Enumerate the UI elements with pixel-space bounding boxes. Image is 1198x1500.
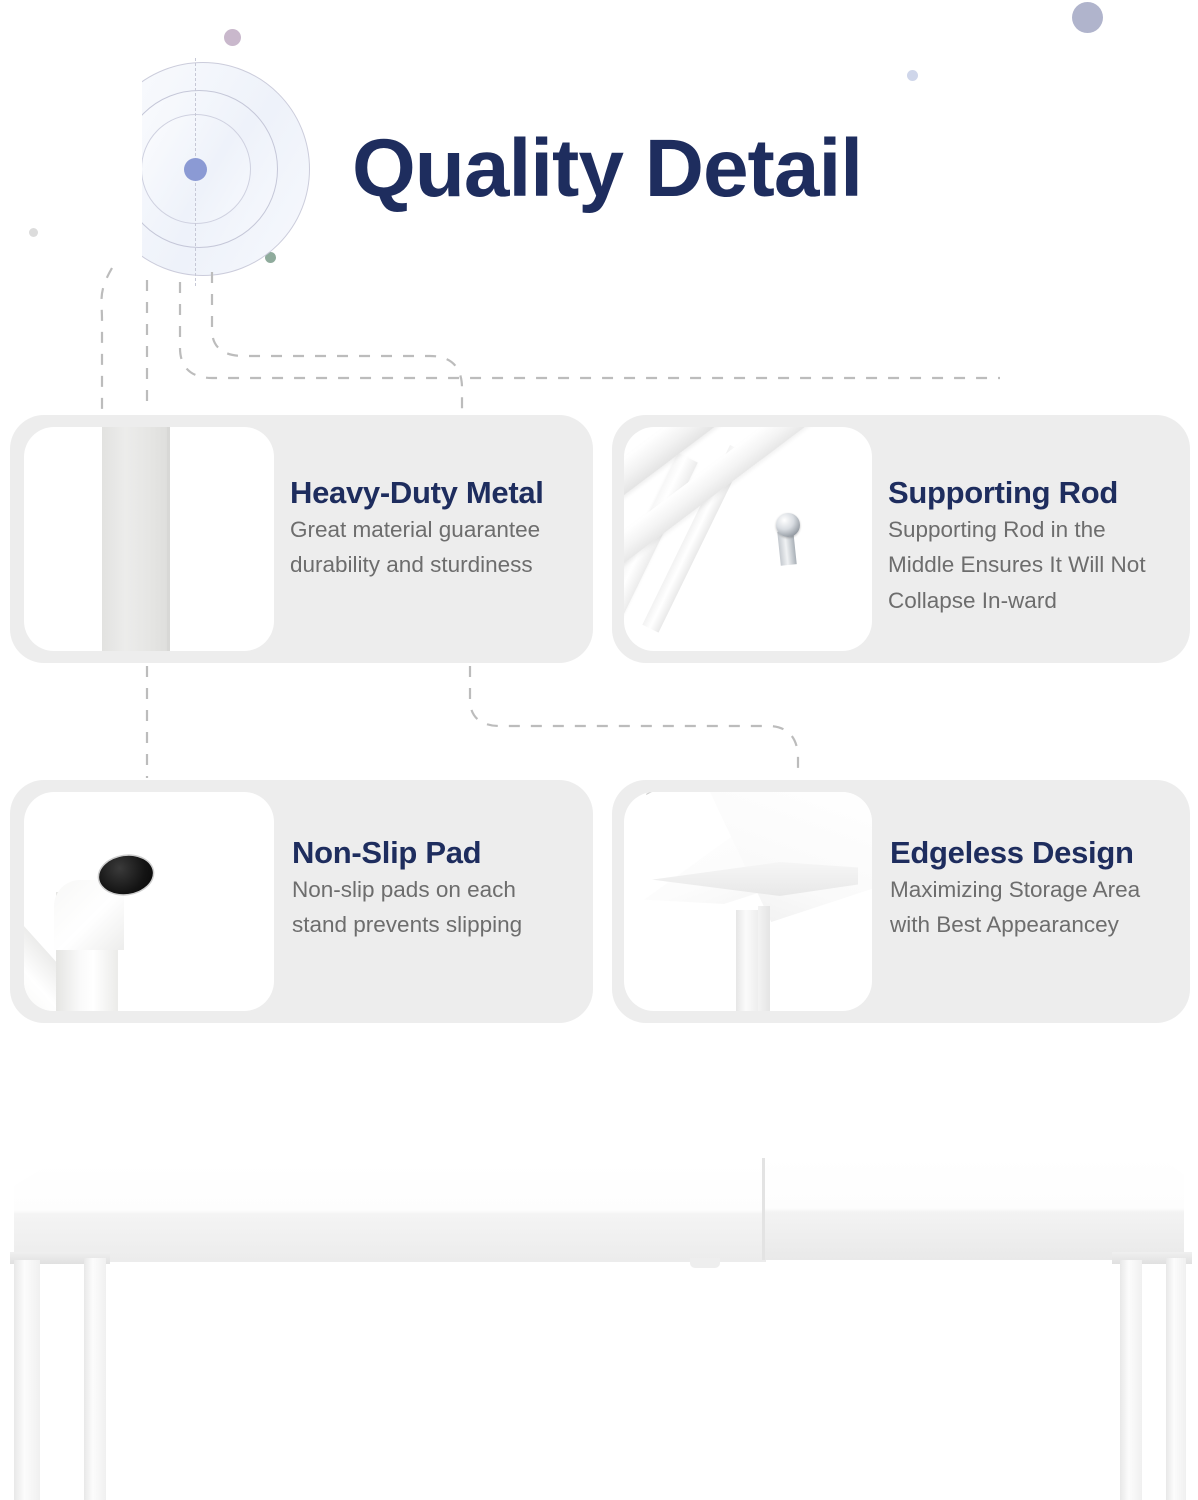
non-slip-pad-photo xyxy=(24,792,274,1011)
feature-card-supporting-rod[interactable]: Supporting Rod Supporting Rod in the Mid… xyxy=(612,415,1190,663)
feature-card-text: Edgeless Design Maximizing Storage Area … xyxy=(872,780,1190,1023)
feature-card-text: Heavy-Duty Metal Great material guarante… xyxy=(274,415,593,663)
infographic-page: Quality Detail Heavy-Duty Metal Great ma… xyxy=(0,0,1198,1500)
feature-desc-line-2: stand prevents slipping xyxy=(292,907,593,943)
feature-title: Supporting Rod xyxy=(888,475,1190,512)
feature-desc-line-1: Great material guarantee xyxy=(290,512,593,548)
table-corner-shape xyxy=(624,792,872,1011)
extension-latch xyxy=(690,1258,720,1268)
feature-card-edgeless-design[interactable]: Edgeless Design Maximizing Storage Area … xyxy=(612,780,1190,1023)
screw-head-icon xyxy=(776,513,800,537)
table-leg-right-back xyxy=(1166,1258,1186,1500)
feature-desc-line-1: Maximizing Storage Area xyxy=(890,872,1190,908)
white-expandable-table-photo xyxy=(0,1100,1198,1500)
table-leg-left-front xyxy=(14,1260,40,1500)
supporting-rod-shape xyxy=(624,427,872,651)
table-leg-front xyxy=(736,910,758,1011)
feature-desc-line-1: Non-slip pads on each xyxy=(292,872,593,908)
leg-shape xyxy=(24,792,274,1011)
feature-title: Heavy-Duty Metal xyxy=(290,475,593,512)
feature-desc-line-2: durability and sturdiness xyxy=(290,547,593,583)
feature-card-text: Non-Slip Pad Non-slip pads on each stand… xyxy=(274,780,593,1023)
feature-desc-line-3: Collapse In-ward xyxy=(888,583,1190,619)
table-leg-side xyxy=(758,906,770,1011)
feature-desc-line-2: with Best Appearancey xyxy=(890,907,1190,943)
feature-desc-line-1: Supporting Rod in the xyxy=(888,512,1190,548)
tabletop-right-panel xyxy=(764,1156,1184,1260)
metal-bar-photo xyxy=(24,427,274,651)
feature-desc-line-2: Middle Ensures It Will Not xyxy=(888,547,1190,583)
feature-card-heavy-duty-metal[interactable]: Heavy-Duty Metal Great material guarante… xyxy=(10,415,593,663)
table-leg-right-front xyxy=(1120,1260,1142,1500)
feature-title: Non-Slip Pad xyxy=(292,835,593,872)
table-leg-left-back xyxy=(84,1258,106,1500)
metal-bar-shape xyxy=(102,427,168,651)
feature-card-non-slip-pad[interactable]: Non-Slip Pad Non-slip pads on each stand… xyxy=(10,780,593,1023)
tabletop-extension-seam xyxy=(762,1158,765,1260)
supporting-rod-photo xyxy=(624,427,872,651)
feature-title: Edgeless Design xyxy=(890,835,1190,872)
tabletop-left-panel xyxy=(14,1162,766,1262)
table-corner-photo xyxy=(624,792,872,1011)
feature-card-text: Supporting Rod Supporting Rod in the Mid… xyxy=(872,415,1190,663)
